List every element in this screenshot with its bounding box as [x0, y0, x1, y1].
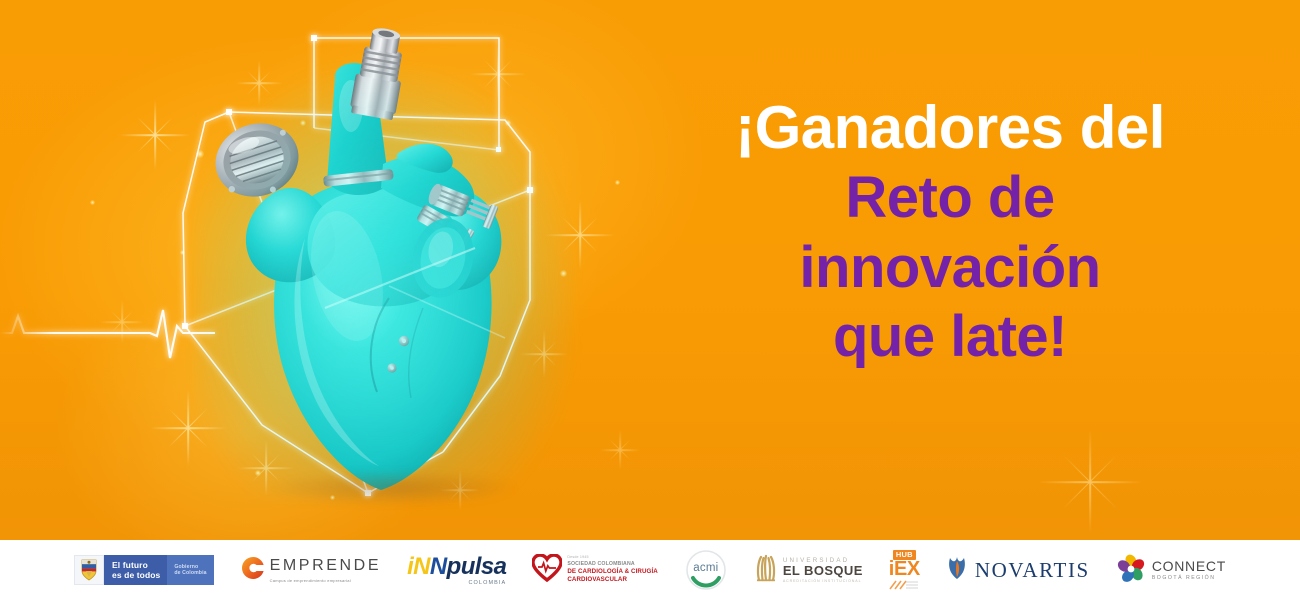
cardio-line-1: SOCIEDAD COLOMBIANA	[567, 561, 658, 568]
connect-line-2: BOGOTÁ REGIÓN	[1152, 575, 1226, 581]
logo-hub-iex[interactable]: HUB iEX	[889, 550, 920, 590]
cardio-line-3: CARDIOVASCULAR	[567, 576, 658, 584]
banner-background: ¡Ganadores del Reto de innovación que la…	[0, 0, 1300, 540]
colombia-coat-of-arms-icon	[74, 555, 104, 585]
innpulsa-wordmark: iNNpulsa	[407, 555, 506, 579]
gov-entity: Gobierno de Colombia	[167, 555, 213, 585]
gov-tagline: El futuro es de todos	[104, 555, 167, 585]
cardio-tiny: Desde 1945	[567, 555, 658, 560]
novartis-flame-icon	[946, 555, 968, 586]
diagonal-strokes-icon	[889, 580, 919, 590]
logo-sociedad-colombiana-de-cardiologia[interactable]: Desde 1945 SOCIEDAD COLOMBIANA DE CARDIO…	[532, 554, 658, 587]
tree-emblem-icon	[754, 554, 778, 587]
logo-connect-bogota-region[interactable]: CONNECT BOGOTÁ REGIÓN	[1116, 553, 1226, 588]
emprende-wordmark: EMPRENDE	[270, 557, 381, 574]
bosque-line-3: ACREDITACIÓN INSTITUCIONAL	[783, 579, 863, 583]
logo-innpulsa-colombia[interactable]: iNNpulsa COLOMBIA	[407, 555, 506, 586]
emprende-tagline: Campus de emprendimiento empresarial	[270, 578, 381, 583]
pinwheel-petals-icon	[1116, 553, 1146, 588]
headline-line-1: ¡Ganadores del	[660, 95, 1240, 160]
cardio-line-2: DE CARDIOLOGÍA & CIRUGÍA	[567, 568, 658, 576]
promotional-banner: ¡Ganadores del Reto de innovación que la…	[0, 0, 1300, 600]
mechanical-heart-illustration	[175, 8, 595, 528]
acmi-wordmark: acmi	[684, 562, 728, 574]
logo-novartis[interactable]: NOVARTIS	[946, 555, 1090, 586]
iex-wordmark: iEX	[889, 559, 920, 579]
heart-ecg-icon	[532, 554, 562, 587]
c-arc-icon	[240, 555, 266, 586]
logo-universidad-el-bosque[interactable]: UNIVERSIDAD EL BOSQUE ACREDITACIÓN INSTI…	[754, 554, 863, 587]
novartis-wordmark: NOVARTIS	[975, 560, 1090, 581]
innpulsa-country: COLOMBIA	[468, 580, 506, 586]
logo-gobierno-de-colombia[interactable]: El futuro es de todos Gobierno de Colomb…	[74, 555, 214, 585]
connect-line-1: CONNECT	[1152, 559, 1226, 574]
headline-line-3: innovación	[660, 236, 1240, 299]
headline: ¡Ganadores del Reto de innovación que la…	[660, 95, 1240, 368]
sponsor-logo-bar: El futuro es de todos Gobierno de Colomb…	[0, 540, 1300, 600]
logo-emprende[interactable]: EMPRENDE Campus de emprendimiento empres…	[240, 555, 381, 586]
headline-line-2: Reto de	[660, 166, 1240, 229]
headline-line-4: que late!	[660, 305, 1240, 368]
bosque-line-2: EL BOSQUE	[783, 564, 863, 578]
logo-acmi[interactable]: acmi	[684, 548, 728, 592]
